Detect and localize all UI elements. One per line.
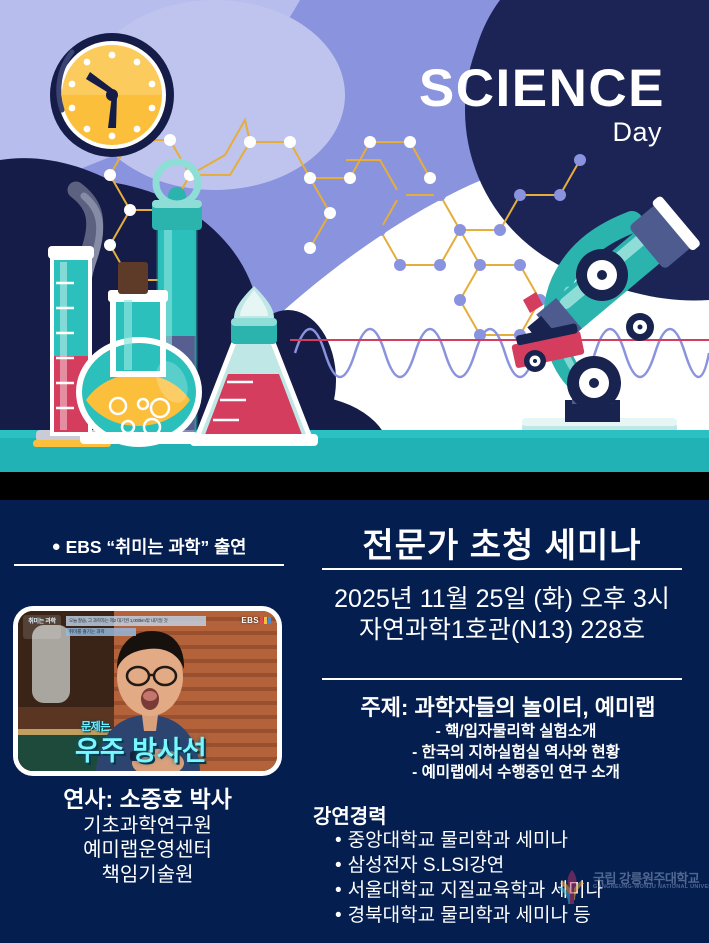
- speaker-photo: 취미는 과학 오늘 잘습, 그 과학자는 제2 대기권 1,000km밖 내기일…: [18, 611, 277, 771]
- show-badge: 취미는 과학: [23, 615, 61, 639]
- topic-item-1: - 핵/입자물리학 실험소개: [323, 722, 709, 743]
- speaker-affiliation-3: 책임기술원: [0, 863, 295, 887]
- seminar-location: 자연과학1호관(N13) 228호: [295, 615, 709, 646]
- hero-illustration: SCIENCE Day: [0, 0, 709, 472]
- seminar-topic: 주제: 과학자들의 놀이터, 예미랩: [307, 690, 709, 722]
- ebs-logo-bar-blue: [268, 617, 271, 624]
- ebs-appearance-heading: ● EBS “취미는 과학” 출연: [14, 534, 284, 566]
- speaker-affiliation-1: 기초과학연구원: [0, 814, 295, 838]
- hero-title: SCIENCE: [419, 62, 665, 115]
- topic-subitems: - 핵/입자물리학 실험소개 - 한국의 지하실험실 역사와 현황 - 예미랩에…: [323, 722, 709, 784]
- university-emblem-icon: [553, 866, 591, 906]
- ebs-logo-bar-yellow: [264, 617, 267, 624]
- seminar-datetime: 2025년 11월 25일 (화) 오후 3시: [295, 584, 709, 615]
- speaker-block: 연사: 소중호 박사 기초과학연구원 예미랩운영센터 책임기술원: [0, 785, 295, 887]
- ebs-appearance-label: EBS “취미는 과학” 출연: [66, 537, 247, 557]
- when-where-block: 2025년 11월 25일 (화) 오후 3시 자연과학1호관(N13) 228…: [295, 584, 709, 645]
- right-column: 전문가 초청 세미나 2025년 11월 25일 (화) 오후 3시 자연과학1…: [295, 500, 709, 943]
- speaker-affiliation-2: 예미랩운영센터: [0, 838, 295, 862]
- divider-rule-top: [322, 568, 682, 570]
- bullet-icon: ●: [52, 538, 61, 555]
- hero-subtitle: Day: [612, 119, 662, 146]
- left-column: ● EBS “취미는 과학” 출연: [0, 500, 295, 943]
- seminar-title: 전문가 초청 세미나: [295, 518, 709, 567]
- career-heading: 강연경력: [313, 800, 387, 829]
- university-watermark: 국립 강릉원주대학교 GANGNEUNG-WONJU NATIONAL UNIV…: [553, 866, 703, 908]
- topic-item-3: - 예미랩에서 수행중인 연구 소개: [323, 763, 709, 784]
- speaker-photo-card: 취미는 과학 오늘 잘습, 그 과학자는 제2 대기권 1,000km밖 내기일…: [13, 606, 282, 776]
- broadcast-headline-strip: 오늘 잘습, 그 과학자는 제2 대기권 1,000km밖 내기일 것: [66, 616, 206, 626]
- ebs-logo-bar-red: [260, 617, 263, 624]
- science-day-seminar-poster: SCIENCE Day ● EBS “취미는 과학” 출연: [0, 0, 709, 943]
- caption-big: 우주 방사선: [75, 729, 207, 768]
- wall-clock-icon: [50, 33, 174, 157]
- ebs-channel-logo: EBS: [241, 616, 271, 625]
- watermark-english: GANGNEUNG-WONJU NATIONAL UNIVERSITY: [593, 884, 709, 890]
- speaker-name: 연사: 소중호 박사: [0, 785, 295, 814]
- ebs-channel-label: EBS: [241, 616, 259, 625]
- info-panel: ● EBS “취미는 과학” 출연: [0, 500, 709, 943]
- topic-item-2: - 한국의 지하실험실 역사와 현황: [323, 743, 709, 764]
- career-item-1: 중앙대학교 물리학과 세미나: [335, 828, 709, 853]
- divider-rule-bottom: [322, 678, 682, 680]
- black-divider-band: [0, 472, 709, 500]
- broadcast-subtitle-strip: 취미를 즐기는 과학: [66, 628, 136, 636]
